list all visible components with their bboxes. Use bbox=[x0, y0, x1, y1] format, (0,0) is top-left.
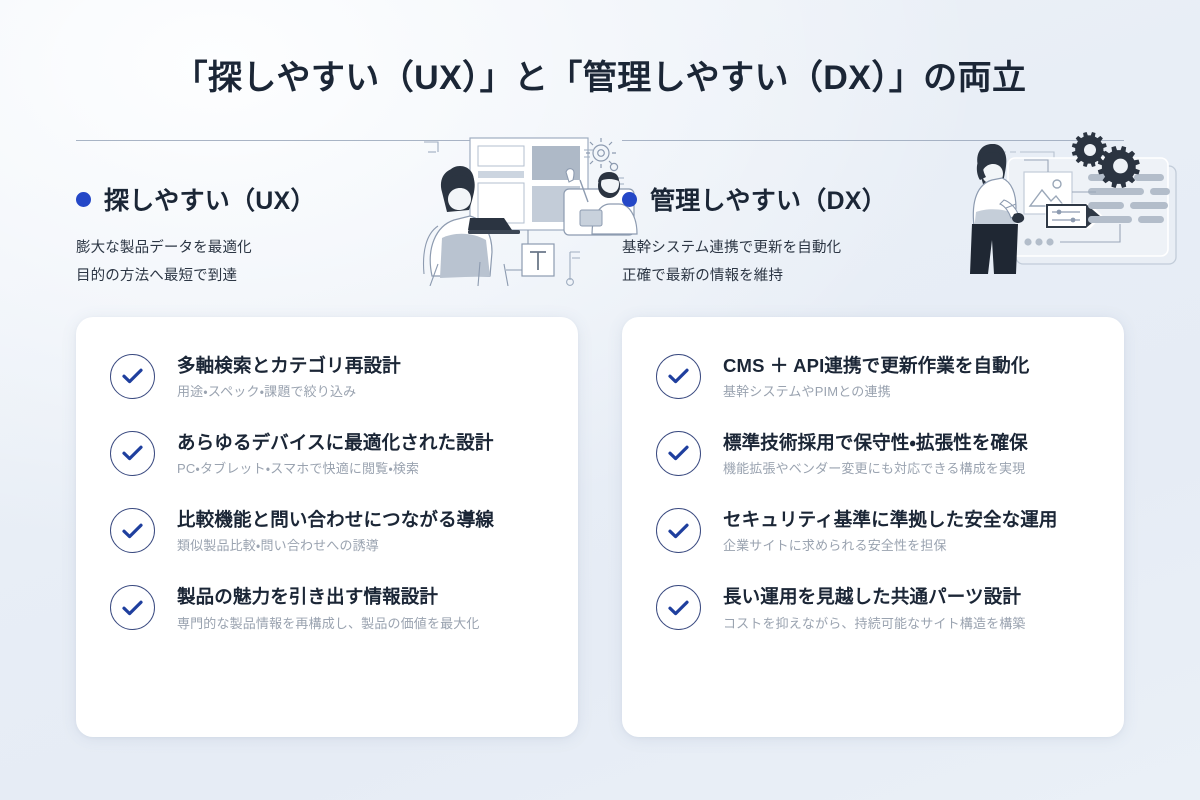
page-title-container: 「探しやすい（UX）」と「管理しやすい（DX）」の両立 bbox=[0, 50, 1200, 99]
heading-row-ux: 探しやすい（UX） bbox=[76, 181, 578, 217]
feature-body: セキュリティ基準に準拠した安全な運用 企業サイトに求められる安全性を担保 bbox=[723, 507, 1058, 556]
feature-title: 製品の魅力を引き出す情報設計 bbox=[177, 585, 480, 609]
feature-title: 多軸検索とカテゴリ再設計 bbox=[177, 354, 401, 378]
feature-subtitle: 専門的な製品情報を再構成し、製品の価値を最大化 bbox=[177, 615, 480, 634]
feature-title: CMS ＋ API連携で更新作業を自動化 bbox=[723, 354, 1030, 378]
feature-body: あらゆるデバイスに最適化された設計 PC・タブレット・スマホで快適に閲覧・検索 bbox=[177, 430, 493, 479]
feature-item: 長い運用を見越した共通パーツ設計 コストを抑えながら、持続可能なサイト構造を構築 bbox=[656, 584, 1094, 633]
check-circle-icon bbox=[656, 354, 701, 399]
heading-row-dx: 管理しやすい（DX） bbox=[622, 181, 1124, 217]
feature-card-dx: CMS ＋ API連携で更新作業を自動化 基幹システムやPIMとの連携 標準技術… bbox=[622, 317, 1124, 737]
feature-body: 長い運用を見越した共通パーツ設計 コストを抑えながら、持続可能なサイト構造を構築 bbox=[723, 584, 1026, 633]
feature-subtitle: コストを抑えながら、持続可能なサイト構造を構築 bbox=[723, 615, 1026, 634]
check-circle-icon bbox=[110, 431, 155, 476]
feature-subtitle: 類似製品比較・問い合わせへの誘導 bbox=[177, 537, 494, 556]
column-subline: 膨大な製品データを最適化 bbox=[76, 234, 578, 262]
column-sublines-ux: 膨大な製品データを最適化 目的の方法へ最短で到達 bbox=[76, 234, 578, 291]
feature-body: 比較機能と問い合わせにつながる導線 類似製品比較・問い合わせへの誘導 bbox=[177, 507, 494, 556]
blue-dot-icon bbox=[622, 192, 637, 207]
column-header-dx: 管理しやすい（DX） 基幹システム連携で更新を自動化 正確で最新の情報を維持 bbox=[622, 181, 1124, 291]
feature-title: あらゆるデバイスに最適化された設計 bbox=[177, 431, 493, 455]
feature-card-ux: 多軸検索とカテゴリ再設計 用途・スペック・課題で絞り込み あらゆるデバイスに最適… bbox=[76, 317, 578, 737]
column-divider-ux bbox=[76, 140, 578, 141]
column-subline: 目的の方法へ最短で到達 bbox=[76, 262, 578, 290]
page-title: 「探しやすい（UX）」と「管理しやすい（DX）」の両立 bbox=[0, 50, 1200, 99]
feature-body: 製品の魅力を引き出す情報設計 専門的な製品情報を再構成し、製品の価値を最大化 bbox=[177, 584, 480, 633]
columns-container: 探しやすい（UX） 膨大な製品データを最適化 目的の方法へ最短で到達 bbox=[76, 140, 1124, 737]
feature-title: セキュリティ基準に準拠した安全な運用 bbox=[723, 508, 1058, 532]
check-circle-icon bbox=[110, 508, 155, 553]
feature-subtitle: 基幹システムやPIMとの連携 bbox=[723, 383, 1030, 402]
feature-item: 製品の魅力を引き出す情報設計 専門的な製品情報を再構成し、製品の価値を最大化 bbox=[110, 584, 548, 633]
feature-title: 長い運用を見越した共通パーツ設計 bbox=[723, 585, 1026, 609]
feature-item: 多軸検索とカテゴリ再設計 用途・スペック・課題で絞り込み bbox=[110, 353, 548, 402]
check-circle-icon bbox=[656, 508, 701, 553]
feature-item: CMS ＋ API連携で更新作業を自動化 基幹システムやPIMとの連携 bbox=[656, 353, 1094, 402]
check-circle-icon bbox=[656, 585, 701, 630]
feature-title: 比較機能と問い合わせにつながる導線 bbox=[177, 508, 494, 532]
feature-item: セキュリティ基準に準拠した安全な運用 企業サイトに求められる安全性を担保 bbox=[656, 507, 1094, 556]
feature-subtitle: 機能拡張やベンダー変更にも対応できる構成を実現 bbox=[723, 460, 1028, 479]
column-subline: 基幹システム連携で更新を自動化 bbox=[622, 234, 1124, 262]
feature-body: 標準技術採用で保守性・拡張性を確保 機能拡張やベンダー変更にも対応できる構成を実… bbox=[723, 430, 1028, 479]
check-circle-icon bbox=[110, 354, 155, 399]
column-divider-dx bbox=[622, 140, 1124, 141]
check-circle-icon bbox=[656, 431, 701, 476]
feature-body: CMS ＋ API連携で更新作業を自動化 基幹システムやPIMとの連携 bbox=[723, 353, 1030, 402]
check-circle-icon bbox=[110, 585, 155, 630]
column-header-ux: 探しやすい（UX） 膨大な製品データを最適化 目的の方法へ最短で到達 bbox=[76, 181, 578, 291]
column-sublines-dx: 基幹システム連携で更新を自動化 正確で最新の情報を維持 bbox=[622, 234, 1124, 291]
feature-subtitle: 企業サイトに求められる安全性を担保 bbox=[723, 537, 1058, 556]
column-subline: 正確で最新の情報を維持 bbox=[622, 262, 1124, 290]
feature-title: 標準技術採用で保守性・拡張性を確保 bbox=[723, 431, 1028, 455]
column-heading-ux: 探しやすい（UX） bbox=[104, 181, 316, 217]
feature-item: 比較機能と問い合わせにつながる導線 類似製品比較・問い合わせへの誘導 bbox=[110, 507, 548, 556]
feature-item: あらゆるデバイスに最適化された設計 PC・タブレット・スマホで快適に閲覧・検索 bbox=[110, 430, 548, 479]
column-ux: 探しやすい（UX） 膨大な製品データを最適化 目的の方法へ最短で到達 bbox=[76, 140, 578, 737]
blue-dot-icon bbox=[76, 192, 91, 207]
feature-body: 多軸検索とカテゴリ再設計 用途・スペック・課題で絞り込み bbox=[177, 353, 401, 402]
column-heading-dx: 管理しやすい（DX） bbox=[650, 181, 887, 217]
column-dx: 管理しやすい（DX） 基幹システム連携で更新を自動化 正確で最新の情報を維持 bbox=[622, 140, 1124, 737]
feature-subtitle: 用途・スペック・課題で絞り込み bbox=[177, 383, 401, 402]
feature-subtitle: PC・タブレット・スマホで快適に閲覧・検索 bbox=[177, 460, 493, 479]
feature-item: 標準技術採用で保守性・拡張性を確保 機能拡張やベンダー変更にも対応できる構成を実… bbox=[656, 430, 1094, 479]
